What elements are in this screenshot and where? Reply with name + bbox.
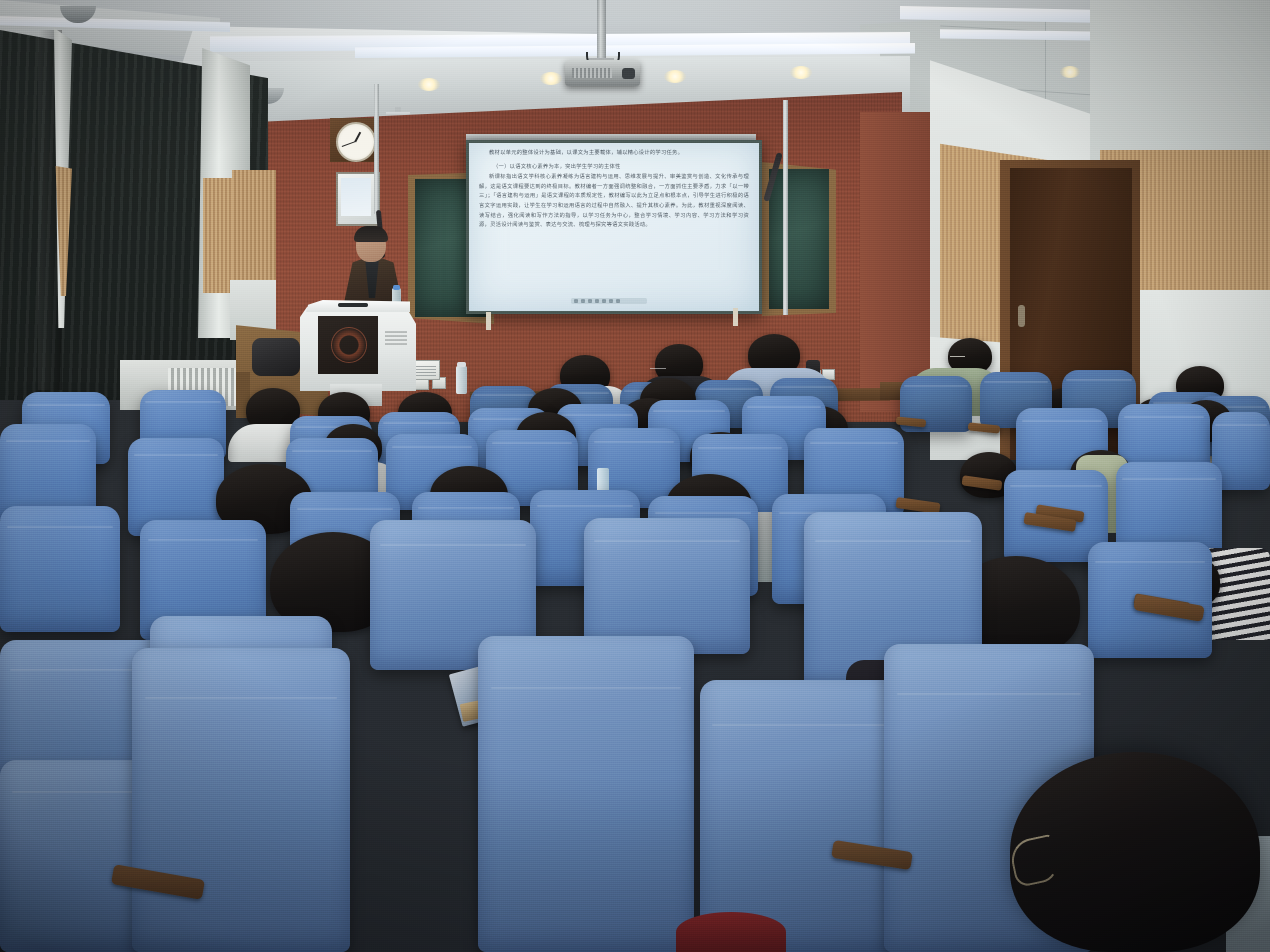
downlight-icon [790,66,812,79]
classroom-photo: 教材以单元的整体设计为基础，以课文为主要载体，辅以精心设计的学习任务。 （一）以… [0,0,1270,952]
microphone-icon [338,303,368,307]
bottle-cap [457,362,466,367]
presenter-hair [354,226,388,242]
water-bottle [456,366,467,394]
slide-heading: （一）以语文核心素养为本，突出学生学习的主体性 [479,163,749,173]
presenter-glasses-icon [358,241,384,247]
downlight-icon [1060,66,1080,78]
desk-placard [412,360,440,380]
downlight-icon [418,78,440,91]
seat[interactable] [478,636,694,952]
slide-paragraph-2: 新课标指出语文学科核心素养凝练为语言建构与运用、思维发展与提升、审美鉴赏与创造、… [479,173,749,231]
front-wall-right-return [860,112,940,412]
seat[interactable] [0,506,120,632]
slide-text-block: 教材以单元的整体设计为基础，以课文为主要载体，辅以精心设计的学习任务。 （一）以… [469,143,759,235]
laser-pointer-icon[interactable] [595,299,599,303]
projection-screen: 教材以单元的整体设计为基础，以课文为主要载体，辅以精心设计的学习任务。 （一）以… [469,143,759,311]
more-options-icon[interactable] [616,299,620,303]
wall-clock-icon [336,122,376,162]
next-slide-icon[interactable] [581,299,585,303]
prev-slide-icon[interactable] [574,299,578,303]
wall-pole [374,84,379,214]
downlight-icon [664,70,686,83]
screen-strap [733,308,738,326]
wall-pole [783,100,788,315]
attendee-glasses-icon [950,356,965,360]
door-handle[interactable] [1018,305,1025,327]
bottle-cap [393,285,400,290]
powerpoint-presenter-toolbar[interactable] [571,298,647,304]
zoom-icon[interactable] [609,299,613,303]
red-object [676,912,786,952]
projector-lens [622,68,635,79]
bag [252,338,300,376]
slide-paragraph-1: 教材以单元的整体设计为基础，以课文为主要载体，辅以精心设计的学习任务。 [479,149,749,159]
projector-vent [572,68,612,78]
downlight-icon [540,72,562,85]
pen-icon[interactable] [588,299,592,303]
notice-sheet [341,178,371,216]
school-emblem-icon [331,327,367,363]
seat[interactable] [584,518,750,654]
slide-overview-icon[interactable] [602,299,606,303]
attendee-glasses-icon [650,368,666,372]
projection-screen-frame: 教材以单元的整体设计为基础，以课文为主要载体，辅以精心设计的学习任务。 （一）以… [466,140,762,314]
seat[interactable] [132,648,350,952]
screen-strap [486,312,491,330]
lectern-speaker-vent [385,331,407,345]
wood-slat-panel [232,170,276,290]
